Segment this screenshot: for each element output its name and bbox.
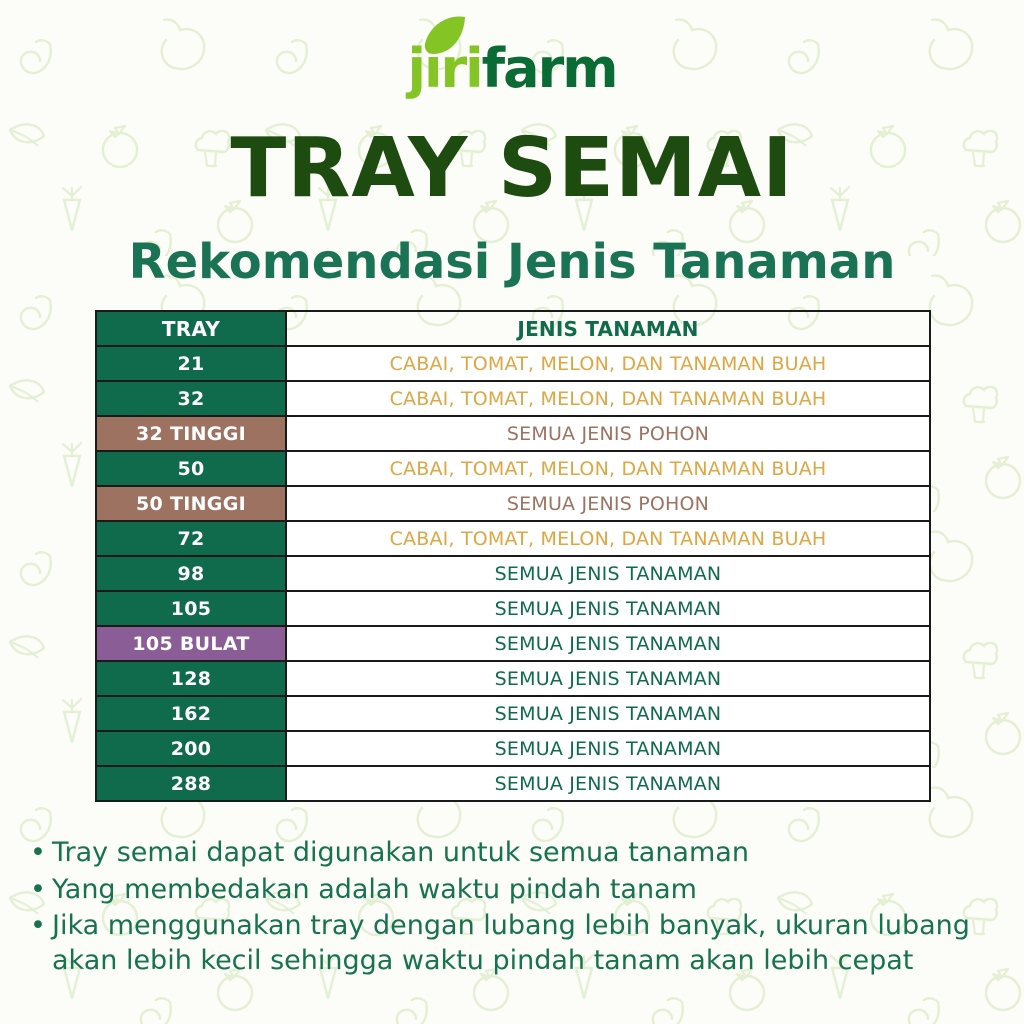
- jenis-tanaman-cell: SEMUA JENIS TANAMAN: [287, 662, 929, 695]
- tray-cell: 50: [97, 452, 287, 485]
- jenis-tanaman-cell: SEMUA JENIS TANAMAN: [287, 557, 929, 590]
- column-header-jenis-tanaman: JENIS TANAMAN: [287, 312, 929, 345]
- tray-cell: 50 TINGGI: [97, 487, 287, 520]
- column-header-tray: TRAY: [97, 312, 287, 345]
- table-row: 50CABAI, TOMAT, MELON, DAN TANAMAN BUAH: [97, 452, 929, 487]
- list-item: •Yang membedakan adalah waktu pindah tan…: [30, 873, 1002, 908]
- list-item: •Tray semai dapat digunakan untuk semua …: [30, 836, 1002, 871]
- jenis-tanaman-cell: CABAI, TOMAT, MELON, DAN TANAMAN BUAH: [287, 347, 929, 380]
- page-subtitle: Rekomendasi Jenis Tanaman: [0, 238, 1024, 286]
- table-row: 32CABAI, TOMAT, MELON, DAN TANAMAN BUAH: [97, 382, 929, 417]
- table-row: 21CABAI, TOMAT, MELON, DAN TANAMAN BUAH: [97, 347, 929, 382]
- table-row: 72CABAI, TOMAT, MELON, DAN TANAMAN BUAH: [97, 522, 929, 557]
- table-row: 128SEMUA JENIS TANAMAN: [97, 662, 929, 697]
- jenis-tanaman-cell: CABAI, TOMAT, MELON, DAN TANAMAN BUAH: [287, 522, 929, 555]
- leaf-icon: [421, 16, 467, 56]
- tray-cell: 200: [97, 732, 287, 765]
- poster-canvas: jirifarm TRAY SEMAI Rekomendasi Jenis Ta…: [0, 0, 1024, 1024]
- table-row: 105SEMUA JENIS TANAMAN: [97, 592, 929, 627]
- jenis-tanaman-cell: SEMUA JENIS TANAMAN: [287, 697, 929, 730]
- jenis-tanaman-cell: SEMUA JENIS POHON: [287, 487, 929, 520]
- tray-cell: 32: [97, 382, 287, 415]
- jenis-tanaman-cell: SEMUA JENIS TANAMAN: [287, 767, 929, 800]
- tray-cell: 128: [97, 662, 287, 695]
- tray-recommendation-table: TRAY JENIS TANAMAN 21CABAI, TOMAT, MELON…: [95, 310, 931, 802]
- tray-cell: 72: [97, 522, 287, 555]
- tray-cell: 288: [97, 767, 287, 800]
- logo-text-farm: farm: [482, 37, 617, 100]
- brand-logo[interactable]: jirifarm: [0, 42, 1024, 112]
- tray-cell: 105: [97, 592, 287, 625]
- note-text: Tray semai dapat digunakan untuk semua t…: [52, 836, 1002, 871]
- notes-list: •Tray semai dapat digunakan untuk semua …: [30, 836, 1002, 980]
- jenis-tanaman-cell: SEMUA JENIS POHON: [287, 417, 929, 450]
- jenis-tanaman-cell: SEMUA JENIS TANAMAN: [287, 627, 929, 660]
- bullet-icon: •: [30, 909, 52, 944]
- jenis-tanaman-cell: CABAI, TOMAT, MELON, DAN TANAMAN BUAH: [287, 452, 929, 485]
- note-text: Yang membedakan adalah waktu pindah tana…: [52, 873, 1002, 908]
- table-row: 98SEMUA JENIS TANAMAN: [97, 557, 929, 592]
- bullet-icon: •: [30, 873, 52, 908]
- tray-cell: 105 BULAT: [97, 627, 287, 660]
- tray-cell: 21: [97, 347, 287, 380]
- table-header-row: TRAY JENIS TANAMAN: [97, 312, 929, 347]
- list-item: •Jika menggunakan tray dengan lubang leb…: [30, 909, 1002, 978]
- bullet-icon: •: [30, 836, 52, 871]
- table-row: 50 TINGGISEMUA JENIS POHON: [97, 487, 929, 522]
- table-row: 162SEMUA JENIS TANAMAN: [97, 697, 929, 732]
- table-row: 105 BULATSEMUA JENIS TANAMAN: [97, 627, 929, 662]
- table-row: 288SEMUA JENIS TANAMAN: [97, 767, 929, 802]
- page-title: TRAY SEMAI: [0, 128, 1024, 210]
- jenis-tanaman-cell: CABAI, TOMAT, MELON, DAN TANAMAN BUAH: [287, 382, 929, 415]
- tray-cell: 32 TINGGI: [97, 417, 287, 450]
- table-row: 32 TINGGISEMUA JENIS POHON: [97, 417, 929, 452]
- tray-cell: 162: [97, 697, 287, 730]
- jenis-tanaman-cell: SEMUA JENIS TANAMAN: [287, 592, 929, 625]
- tray-cell: 98: [97, 557, 287, 590]
- note-text: Jika menggunakan tray dengan lubang lebi…: [52, 909, 1002, 978]
- table-row: 200SEMUA JENIS TANAMAN: [97, 732, 929, 767]
- jenis-tanaman-cell: SEMUA JENIS TANAMAN: [287, 732, 929, 765]
